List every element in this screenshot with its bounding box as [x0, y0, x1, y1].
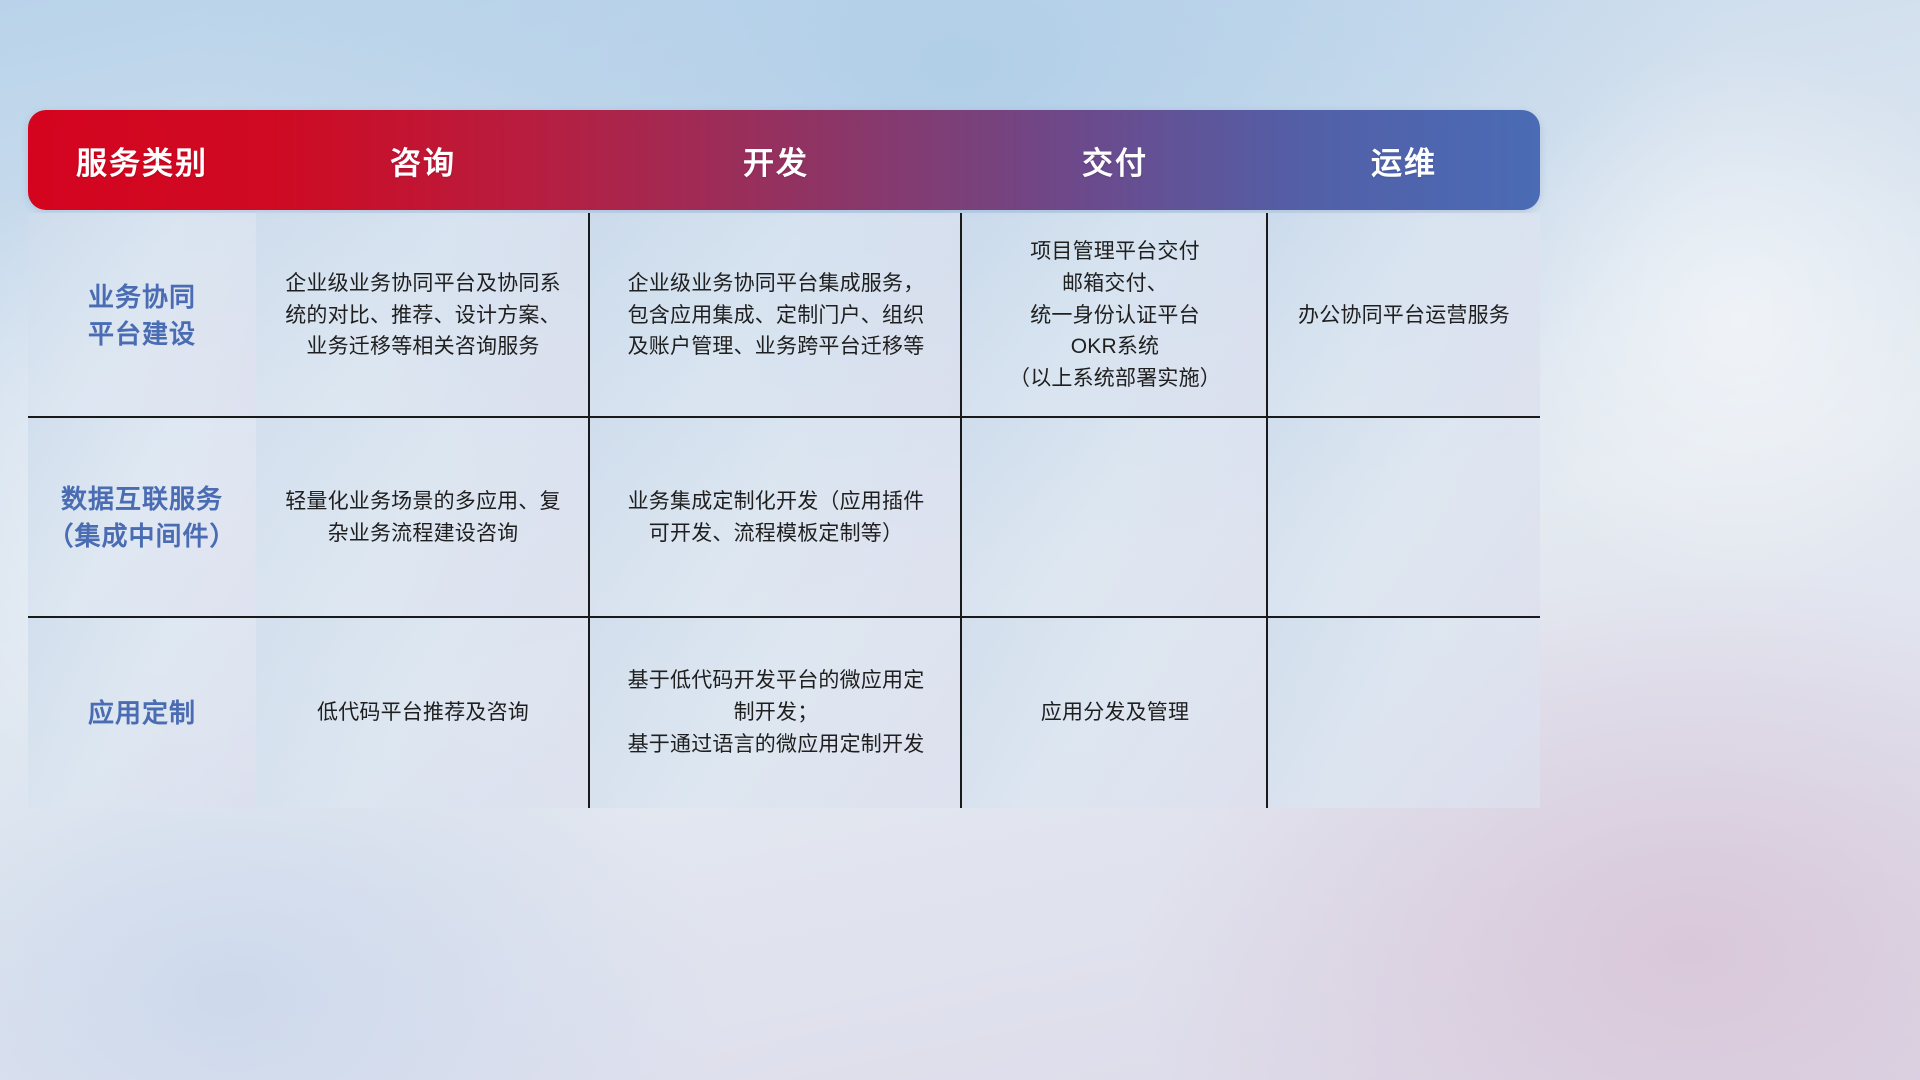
cell-consulting: 企业级业务协同平台及协同系统的对比、推荐、设计方案、业务迁移等相关咨询服务 [256, 213, 590, 418]
cell-development: 基于低代码开发平台的微应用定制开发；基于通过语言的微应用定制开发 [590, 618, 962, 808]
cell-text: 业务集成定制化开发（应用插件可开发、流程模板定制等） [628, 486, 925, 550]
row-header-cell: 应用定制 [28, 618, 256, 808]
column-header-category: 服务类别 [28, 110, 256, 210]
table-row: 数据互联服务（集成中间件） 轻量化业务场景的多应用、复杂业务流程建设咨询 业务集… [28, 418, 1540, 618]
column-header-consulting-label: 咨询 [390, 138, 456, 183]
column-divider [1266, 418, 1268, 618]
cell-operations [1268, 418, 1540, 618]
background-glow-right [1480, 40, 1920, 600]
cell-delivery [962, 418, 1268, 618]
table-row: 业务协同平台建设 企业级业务协同平台及协同系统的对比、推荐、设计方案、业务迁移等… [28, 213, 1540, 418]
column-divider [588, 418, 590, 618]
cell-text: 项目管理平台交付邮箱交付、统一身份认证平台OKR系统（以上系统部署实施） [1009, 236, 1221, 396]
service-matrix-table: 服务类别 咨询 开发 交付 运维 业务协同平台建设 企业级业务协同平台及协同系统… [28, 110, 1540, 808]
column-header-operations: 运维 [1268, 110, 1540, 210]
cell-text: 企业级业务协同平台及协同系统的对比、推荐、设计方案、业务迁移等相关咨询服务 [285, 268, 561, 364]
column-divider [588, 618, 590, 808]
cell-text: 基于低代码开发平台的微应用定制开发；基于通过语言的微应用定制开发 [628, 665, 925, 761]
row-header-cell: 数据互联服务（集成中间件） [28, 418, 256, 618]
cell-development: 企业级业务协同平台集成服务，包含应用集成、定制门户、组织及账户管理、业务跨平台迁… [590, 213, 962, 418]
cell-text: 应用分发及管理 [1041, 697, 1189, 729]
cell-delivery: 项目管理平台交付邮箱交付、统一身份认证平台OKR系统（以上系统部署实施） [962, 213, 1268, 418]
column-divider [588, 213, 590, 418]
column-header-delivery: 交付 [962, 110, 1268, 210]
cell-operations: 办公协同平台运营服务 [1268, 213, 1540, 418]
cell-consulting: 低代码平台推荐及咨询 [256, 618, 590, 808]
column-header-operations-label: 运维 [1371, 138, 1437, 183]
row-label: 数据互联服务（集成中间件） [47, 481, 236, 555]
column-divider [1266, 213, 1268, 418]
column-header-delivery-label: 交付 [1082, 138, 1148, 183]
cell-consulting: 轻量化业务场景的多应用、复杂业务流程建设咨询 [256, 418, 590, 618]
column-header-development-label: 开发 [743, 138, 809, 183]
cell-text: 办公协同平台运营服务 [1298, 300, 1510, 332]
column-header-development: 开发 [590, 110, 962, 210]
column-divider [960, 618, 962, 808]
cell-operations [1268, 618, 1540, 808]
column-divider [960, 418, 962, 618]
column-header-category-label: 服务类别 [76, 138, 208, 183]
cell-text: 企业级业务协同平台集成服务，包含应用集成、定制门户、组织及账户管理、业务跨平台迁… [628, 268, 925, 364]
table-header-row: 服务类别 咨询 开发 交付 运维 [28, 110, 1540, 210]
cell-text: 轻量化业务场景的多应用、复杂业务流程建设咨询 [285, 486, 561, 550]
table-row: 应用定制 低代码平台推荐及咨询 基于低代码开发平台的微应用定制开发；基于通过语言… [28, 618, 1540, 808]
row-label: 业务协同平台建设 [88, 279, 196, 353]
column-divider [960, 213, 962, 418]
column-divider [1266, 618, 1268, 808]
cell-text: 低代码平台推荐及咨询 [317, 697, 529, 729]
table-body: 业务协同平台建设 企业级业务协同平台及协同系统的对比、推荐、设计方案、业务迁移等… [28, 213, 1540, 808]
row-label: 应用定制 [88, 695, 196, 732]
cell-delivery: 应用分发及管理 [962, 618, 1268, 808]
cell-development: 业务集成定制化开发（应用插件可开发、流程模板定制等） [590, 418, 962, 618]
column-header-consulting: 咨询 [256, 110, 590, 210]
row-header-cell: 业务协同平台建设 [28, 213, 256, 418]
